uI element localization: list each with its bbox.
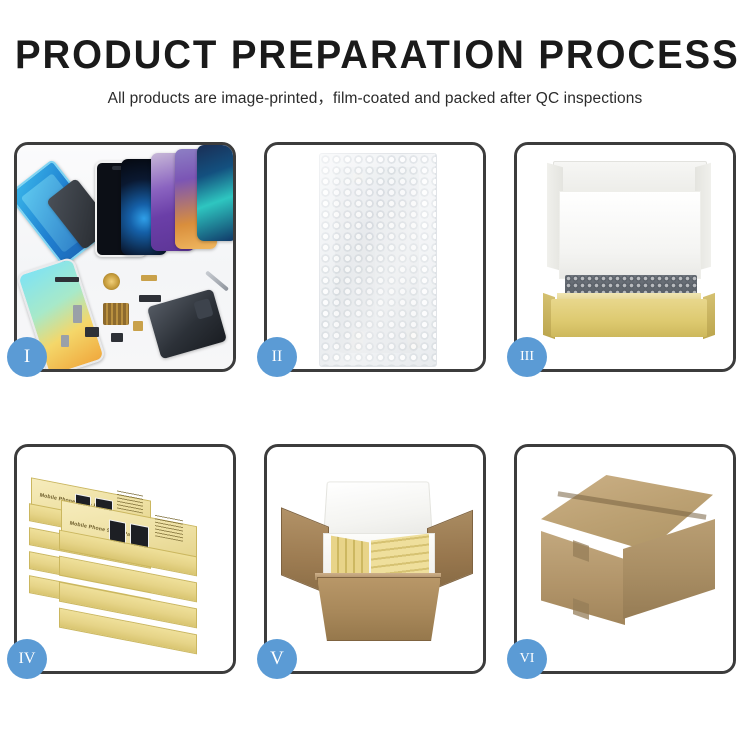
foam-liner [559,191,701,279]
chip-array-part [103,303,129,325]
step-6-badge: VI [507,639,547,679]
process-step-3[interactable]: III [514,142,736,372]
step-3-badge: III [507,337,547,377]
small-part-8 [61,335,69,347]
step-6-image [517,447,733,671]
process-step-1[interactable]: I [14,142,236,372]
small-part-1 [55,277,79,282]
process-steps-grid: I II III [14,142,737,674]
process-step-5[interactable]: V [264,444,486,674]
carton-front-panel [317,577,441,641]
screwdriver-tool-image [205,270,229,291]
small-part-4 [73,305,82,323]
small-part-6 [133,321,143,331]
step-4-image: Mobile Phone Spare Parts Mobile Phone Sp… [17,447,233,671]
step-5-badge: V [257,639,297,679]
small-part-5 [85,327,99,337]
step-4-badge: IV [7,639,47,679]
small-part-7 [111,333,123,342]
small-part-3 [139,295,161,302]
step-1-badge: I [7,337,47,377]
bubble-wrap-bag [319,153,437,367]
page-header: PRODUCT PREPARATION PROCESS All products… [0,0,750,108]
step-3-image [517,145,733,369]
step-1-image [17,145,233,369]
speaker-coil-part [103,273,120,290]
process-step-4[interactable]: Mobile Phone Spare Parts Mobile Phone Sp… [14,444,236,674]
page-subtitle: All products are image-printed，film-coat… [0,86,750,108]
page-title: PRODUCT PREPARATION PROCESS [15,34,735,76]
process-step-2[interactable]: II [264,142,486,372]
teal-phone-image [197,145,233,241]
foam-lid [323,481,433,538]
small-part-2 [141,275,157,281]
process-step-6[interactable]: VI [514,444,736,674]
step-5-image [267,447,483,671]
step-2-badge: II [257,337,297,377]
box-front-panel [551,299,707,337]
step-2-image [267,145,483,369]
